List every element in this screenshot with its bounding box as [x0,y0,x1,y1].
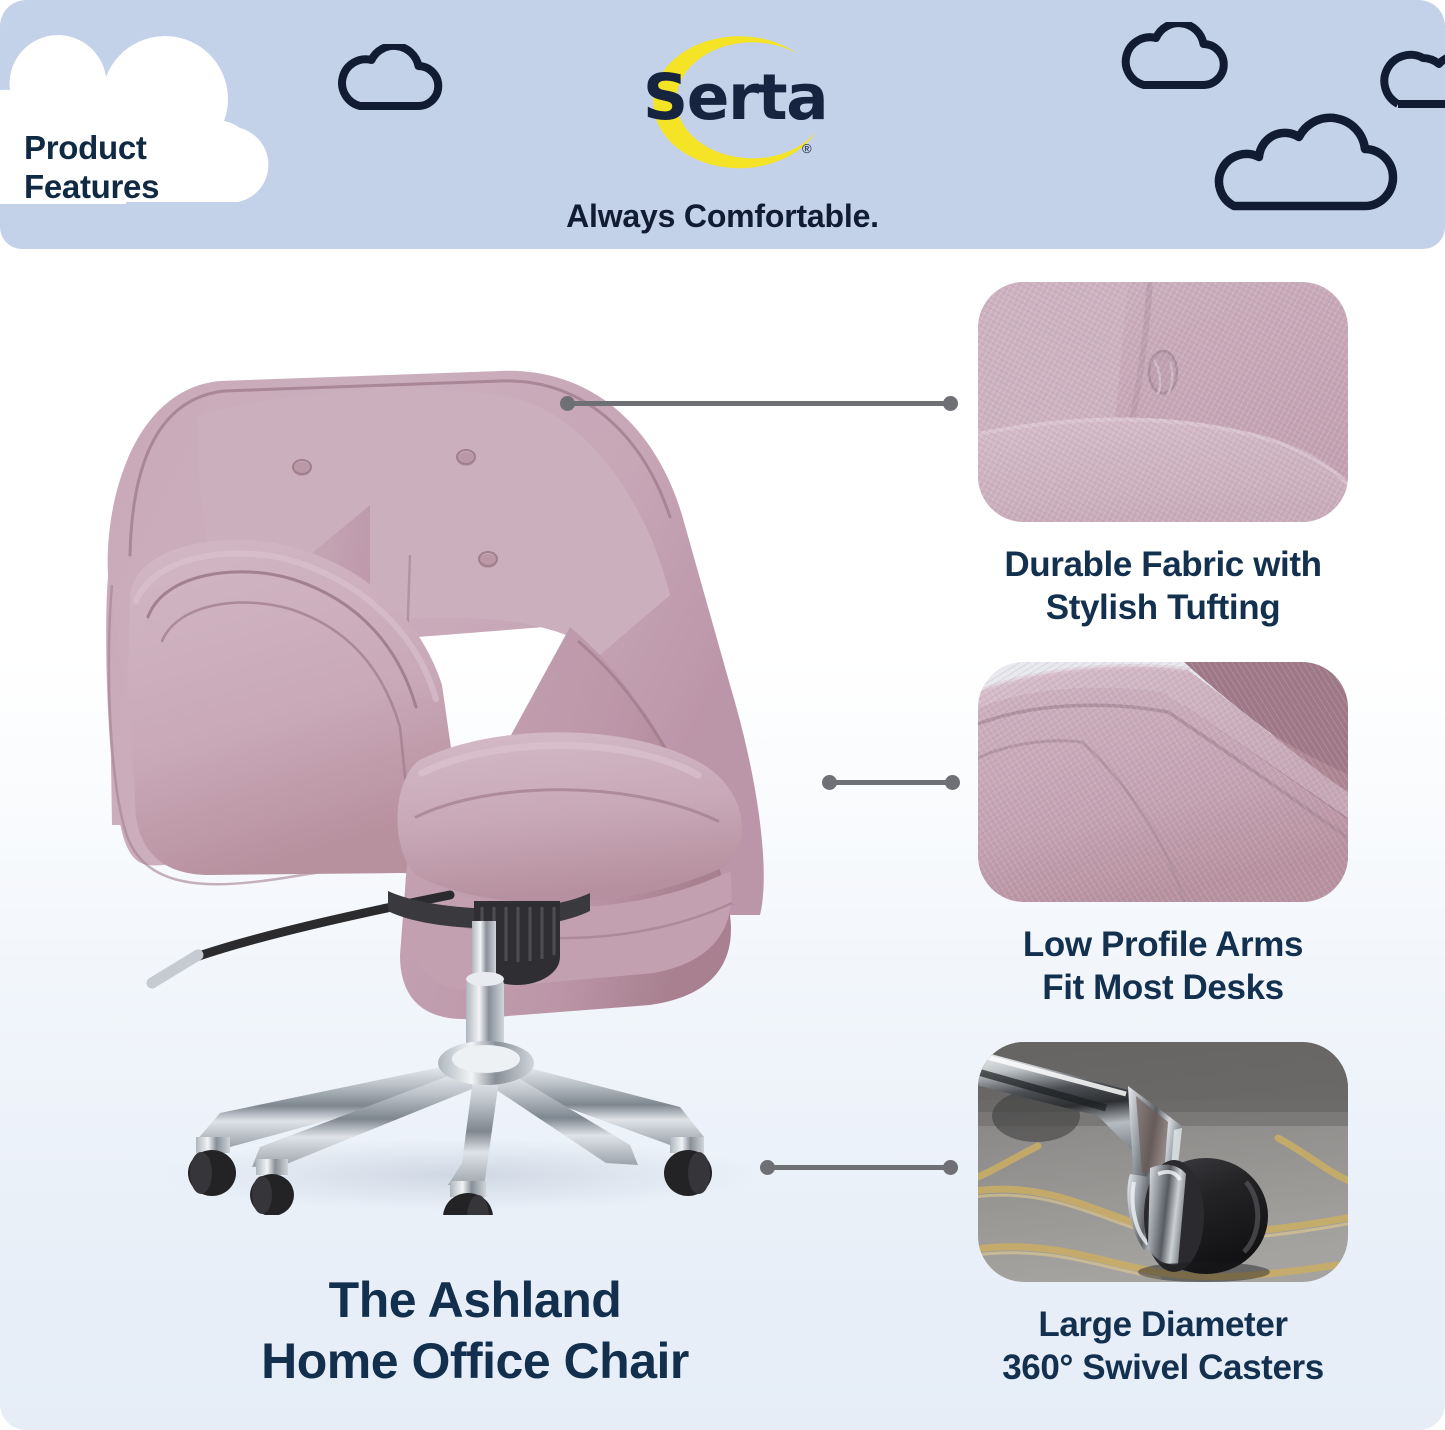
serta-logo: Serta ® [630,28,840,176]
cloud-icon-edge-right [1378,42,1445,116]
swivel-caster-closeup [978,1042,1348,1282]
product-features-infographic: Product Features Serta ® Always Comforta… [0,0,1445,1430]
connector-line-fabric [560,396,958,410]
connector-dot-end [945,775,960,790]
feature-card-fabric: Durable Fabric with Stylish Tufting [978,282,1348,629]
connector-dot-end [943,1160,958,1175]
cloud-icon-small-left [334,44,444,116]
low-profile-arm-closeup [978,662,1348,902]
cloud-icon-small-right [1118,22,1230,96]
connector-line [828,780,954,785]
header-band: Product Features Serta ® Always Comforta… [0,0,1445,249]
connector-dot-end [943,396,958,411]
connector-line [766,1165,952,1170]
feature-card-casters: Large Diameter 360° Swivel Casters [978,1042,1348,1389]
connector-line-casters [760,1160,958,1174]
connector-line [566,401,952,406]
feature-caption-fabric: Durable Fabric with Stylish Tufting [978,543,1348,629]
feature-caption-casters: Large Diameter 360° Swivel Casters [978,1303,1348,1389]
registered-trademark-icon: ® [802,141,812,156]
connector-line-arms [822,775,960,789]
product-title: The Ashland Home Office Chair [60,1270,890,1392]
serta-tagline: Always Comfortable. [0,198,1445,235]
serta-wordmark: Serta [630,66,840,129]
fabric-tufting-closeup [978,282,1348,522]
feature-caption-arms: Low Profile Arms Fit Most Desks [978,923,1348,1009]
product-hero-image [70,355,830,1215]
product-features-badge: Product Features [0,24,318,224]
product-features-badge-label: Product Features [24,128,159,206]
feature-card-arms: Low Profile Arms Fit Most Desks [978,662,1348,1009]
